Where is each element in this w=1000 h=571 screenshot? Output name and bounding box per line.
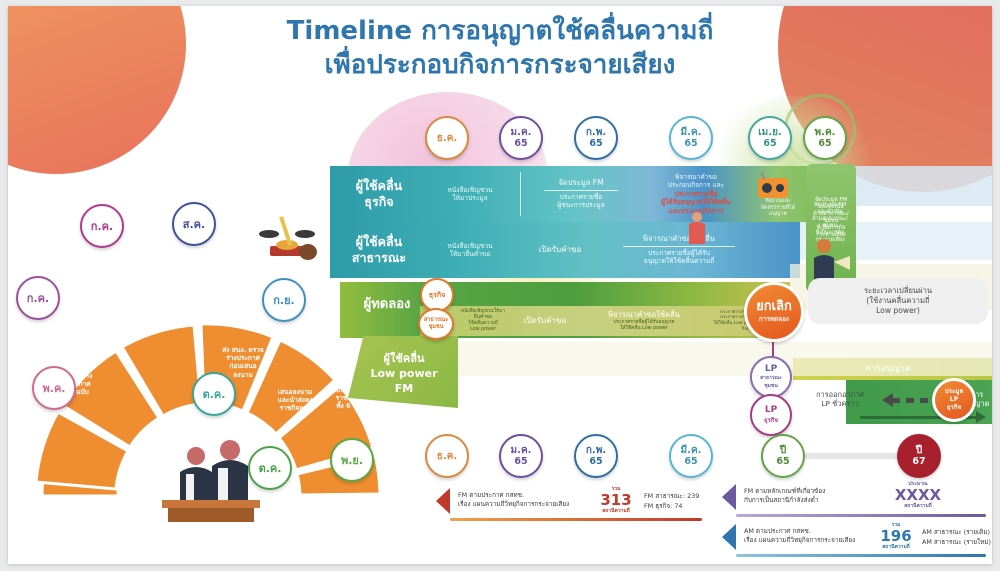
cell-public-0: หนังสือเชิญชวน ให้มายื่นคำขอ xyxy=(422,226,518,274)
stat-fm-lowpower-chevron xyxy=(722,484,736,510)
note-transition-period: ระยะเวลาเปลี่ยนผ่าน (ใช้งานคลื่นความถี่ … xyxy=(808,278,988,324)
gavel-icon xyxy=(256,212,318,264)
stat-am-plan-line1: AM ตามประกาศ กสทช. xyxy=(744,527,884,536)
radio-icon xyxy=(756,170,790,200)
arc-seg-3-text: ปิดรับฟัง ความเห็น สาธารณะ xyxy=(154,246,228,271)
cell-public-2-bottom: ประกาศรายชื่อผู้ได้รับ อนุญาตให้ใช้คลื่น… xyxy=(644,249,714,266)
row-label-trial: ผู้ทดลอง xyxy=(348,282,426,328)
row-label-lowpower-line3: FM xyxy=(395,381,413,396)
stat-am-plan-detail1: AM สาธารณะ (รายเดิม) 155 xyxy=(922,528,992,538)
arc-month-1[interactable]: ก.ค. xyxy=(16,276,60,320)
stat-am-plan-count: 196 xyxy=(874,528,918,544)
row-label-business: ผู้ใช้คลื่น ธุรกิจ xyxy=(338,166,420,222)
row-label-public: ผู้ใช้คลื่น สาธารณะ xyxy=(338,222,420,278)
badge-lp-business-line2: ธุรกิจ xyxy=(764,415,778,425)
label-broadcast-temp: การออกอากาศ LP ชั่วคราว xyxy=(796,384,884,414)
row-label-business-line2: ธุรกิจ xyxy=(364,194,393,210)
stat-am-plan: AM ตามประกาศ กสทช. เรื่อง แผนความถี่วิทย… xyxy=(722,524,990,562)
cell-business-2-top: พิจารณาคำขอ ประกอบกิจการ และ xyxy=(668,173,724,190)
arc-month-3[interactable]: ส.ค. xyxy=(172,202,216,246)
cell-business-1: จัดประมูล FM ประกาศรายชื่อ ผู้ชนะการประม… xyxy=(528,168,634,220)
stat-fm-lowpower: FM ตามหลักเกณฑ์ที่เกี่ยวข้อง กับการเป็นส… xyxy=(722,484,990,520)
megaphone-icon xyxy=(684,210,710,246)
stat-fm-lowpower-line1: FM ตามหลักเกณฑ์ที่เกี่ยวข้อง xyxy=(744,487,892,496)
arc-month-6-label: ต.ค. xyxy=(259,463,282,474)
stat-am-plan-number: รวม 196 สถานีความถี่ xyxy=(874,522,918,550)
row-label-business-line1: ผู้ใช้คลื่น xyxy=(356,178,402,194)
arrow-green-right-head xyxy=(976,411,986,423)
stat-fm-plan-text: FM ตามประกาศ กสทช. เรื่อง แผนความถี่วิทย… xyxy=(458,491,598,509)
top-month-2-name: ก.พ. xyxy=(586,127,606,138)
bottom-month-5-year: 67 xyxy=(912,456,925,467)
badge-lp-business[interactable]: LP ธุรกิจ xyxy=(750,394,792,436)
stat-fm-lowpower-count: XXXX xyxy=(888,487,948,503)
badge-lp-public[interactable]: LP สาธารณะ ชุมชน xyxy=(750,356,792,398)
arrow-dashed-left xyxy=(892,398,936,403)
cell-trial-0: หนังสือเชิญชวนให้มา ยื่นคำขอ ใช้คลื่นควา… xyxy=(456,306,510,336)
cell-trial-2: พิจารณาคำขอใช้คลื่น ประกาศรายชื่อผู้ได้ร… xyxy=(580,304,708,338)
cell-business-1-bottom: ประกาศรายชื่อ ผู้ชนะการประมูล xyxy=(557,193,604,210)
stat-fm-plan-count: 313 xyxy=(594,492,638,508)
badge-auction-line1: ประมูล xyxy=(945,388,963,396)
stat-fm-plan-rule xyxy=(450,518,702,521)
bottom-month-3[interactable]: มี.ค. 65 xyxy=(669,434,713,478)
badge-lp-business-line1: LP xyxy=(765,405,777,415)
bottom-month-4[interactable]: ปี 65 xyxy=(761,434,805,478)
top-month-0-name: ธ.ค. xyxy=(437,133,457,144)
infographic-canvas: Timeline การอนุญาตใช้คลื่นความถี่ เพื่อป… xyxy=(8,6,992,564)
badge-auction-line3: ธุรกิจ xyxy=(947,404,961,412)
arc-month-0-label: พ.ค. xyxy=(43,383,66,394)
badge-auction-line2: LP xyxy=(950,396,958,404)
row-label-public-line2: สาธารณะ xyxy=(352,250,406,266)
stat-fm-lowpower-text: FM ตามหลักเกณฑ์ที่เกี่ยวข้อง กับการเป็นส… xyxy=(744,487,892,505)
arc-month-7[interactable]: พ.ย. xyxy=(330,438,374,482)
bottom-month-2[interactable]: ก.พ. 65 xyxy=(574,434,618,478)
bottom-month-1[interactable]: ม.ค. 65 xyxy=(499,434,543,478)
arc-month-5[interactable]: ต.ค. xyxy=(192,372,236,416)
bottom-month-4-name: ปี xyxy=(780,445,786,456)
stat-am-plan-details: AM สาธารณะ (รายเดิม) 155 AM สาธารณะ (ราย… xyxy=(922,528,992,547)
stat-fm-plan-line1: FM ตามประกาศ กสทช. xyxy=(458,491,598,500)
bottom-month-3-year: 65 xyxy=(684,456,697,467)
strip-business-ext xyxy=(850,166,992,206)
row-label-lowpower-line1: ผู้ใช้คลื่น xyxy=(384,351,425,366)
top-month-5[interactable]: พ.ค. 65 xyxy=(803,116,847,160)
row-label-lowpower: ผู้ใช้คลื่น Low power FM xyxy=(352,342,456,404)
stat-fm-plan: FM ตามประกาศ กสทช. เรื่อง แผนความถี่วิทย… xyxy=(436,488,706,526)
top-month-3[interactable]: มี.ค. 65 xyxy=(669,116,713,160)
badge-lp-public-line1: LP xyxy=(765,364,777,374)
row-label-lowpower-line2: Low power xyxy=(370,366,437,381)
title-line-2: เพื่อประกอบกิจการกระจายเสียง xyxy=(8,48,992,82)
bottom-month-4-year: 65 xyxy=(776,456,789,467)
badge-trial-business-label: ธุรกิจ xyxy=(429,290,445,301)
top-month-0[interactable]: ธ.ค. xyxy=(425,116,469,160)
stat-fm-lowpower-number: ประมาณ XXXX สถานีความถี่ xyxy=(888,481,948,509)
bottom-month-5[interactable]: ปี 67 xyxy=(897,434,941,478)
arc-month-7-label: พ.ย. xyxy=(341,455,363,466)
top-month-3-year: 65 xyxy=(684,138,697,149)
bottom-month-0[interactable]: ธ.ค. xyxy=(425,434,469,478)
bottom-month-1-year: 65 xyxy=(514,456,527,467)
bottom-month-5-name: ปี xyxy=(916,445,922,456)
cell-trial-1: เปิดรับคำขอ xyxy=(512,306,578,336)
bottom-month-2-year: 65 xyxy=(589,456,602,467)
stat-fm-plan-number: รวม 313 สถานีความถี่ xyxy=(594,486,638,514)
bottom-month-0-name: ธ.ค. xyxy=(437,451,457,462)
top-month-2[interactable]: ก.พ. 65 xyxy=(574,116,618,160)
cell-business-1-top: จัดประมูล FM xyxy=(558,178,603,187)
stat-am-plan-detail2: AM สาธารณะ (รายใหม่) 41 xyxy=(922,538,992,548)
top-month-2-year: 65 xyxy=(589,138,602,149)
arc-month-0[interactable]: พ.ค. xyxy=(32,366,76,410)
top-month-1[interactable]: ม.ค. 65 xyxy=(499,116,543,160)
arc-month-3-label: ส.ค. xyxy=(183,219,205,230)
stat-am-plan-line2: เรื่อง แผนความถี่วิทยุกิจการกระจายเสียง xyxy=(744,536,884,545)
arc-month-4-label: ก.ย. xyxy=(273,295,294,306)
top-month-1-name: ม.ค. xyxy=(511,127,532,138)
badge-lp-public-line2: สาธารณะ xyxy=(760,374,782,382)
row-label-trial-text: ผู้ทดลอง xyxy=(364,297,411,313)
page-title: Timeline การอนุญาตใช้คลื่นความถี่ เพื่อป… xyxy=(8,14,992,82)
bottom-month-3-name: มี.ค. xyxy=(681,445,702,456)
top-month-3-name: มี.ค. xyxy=(681,127,702,138)
top-month-4[interactable]: เม.ย. 65 xyxy=(748,116,792,160)
divider-business-0 xyxy=(520,172,521,216)
badge-lp-public-line3: ชุมชน xyxy=(764,382,778,390)
cell-public-2-rule xyxy=(623,246,735,247)
top-month-1-year: 65 xyxy=(514,138,527,149)
badge-trial-business: ธุรกิจ xyxy=(420,278,454,312)
badge-cancel-trial[interactable]: ยกเลิก การทดลอง xyxy=(744,282,804,342)
stat-am-plan-chevron xyxy=(722,524,736,550)
bottom-month-1-name: ม.ค. xyxy=(511,445,532,456)
cell-trial-2-bottom: ประกาศรายชื่อผู้ได้รับอนุญาต ให้ใช้คลื่น… xyxy=(613,320,674,332)
badge-cancel-line2: การทดลอง xyxy=(759,314,789,324)
arrow-dashed-head xyxy=(882,393,893,407)
bottom-month-2-name: ก.พ. xyxy=(586,445,606,456)
stat-fm-lowpower-line2: กับการเป็นสถานีกำลังส่งต่ำ xyxy=(744,496,892,505)
stat-am-plan-rule xyxy=(736,554,986,557)
top-month-4-name: เม.ย. xyxy=(758,127,781,138)
title-line-1: Timeline การอนุญาตใช้คลื่นความถี่ xyxy=(287,16,714,46)
stat-fm-plan-chevron xyxy=(436,488,450,514)
arc-month-2[interactable]: ก.ค. xyxy=(80,204,124,248)
arc-month-6[interactable]: ต.ค. xyxy=(248,446,292,490)
arc-month-5-label: ต.ค. xyxy=(203,389,226,400)
stat-fm-plan-details: FM สาธารณะ: 239 FM ธุรกิจ: 74 xyxy=(644,492,734,511)
bottom-month-connector xyxy=(803,453,909,459)
top-month-5-name: พ.ค. xyxy=(815,127,836,138)
badge-trial-public-label: สาธารณะ ชุมชน xyxy=(424,317,448,331)
stat-fm-lowpower-rule xyxy=(736,514,986,517)
cell-public-2: พิจารณาคำขอใช้คลื่น ประกาศรายชื่อผู้ได้ร… xyxy=(604,224,754,276)
badge-trial-public: สาธารณะ ชุมชน xyxy=(418,308,454,340)
cell-business-1-rule xyxy=(544,190,618,191)
row-label-public-line1: ผู้ใช้คลื่น xyxy=(356,234,402,250)
cell-trial-2-top: พิจารณาคำขอใช้คลื่น xyxy=(608,310,680,319)
top-month-4-year: 65 xyxy=(763,138,776,149)
stat-am-plan-text: AM ตามประกาศ กสทช. เรื่อง แผนความถี่วิทย… xyxy=(744,527,884,545)
arc-seg-2-text: เปิดรับฟัง ความเห็นสาธารณะ ร่างประกาศ 6 … xyxy=(80,250,154,283)
stat-fm-plan-detail1: FM สาธารณะ: 239 xyxy=(644,492,734,502)
arc-month-4[interactable]: ก.ย. xyxy=(262,278,306,322)
badge-auction-lp-business[interactable]: ประมูล LP ธุรกิจ xyxy=(932,378,976,422)
stat-fm-plan-detail2: FM ธุรกิจ: 74 xyxy=(644,502,734,512)
top-month-5-year: 65 xyxy=(818,138,831,149)
cell-public-1: เปิดรับคำขอ xyxy=(520,226,600,274)
cell-business-0: หนังสือเชิญชวน ให้มาประมูล xyxy=(422,168,518,220)
arc-month-2-label: ก.ค. xyxy=(91,221,113,232)
badge-cancel-line1: ยกเลิก xyxy=(756,300,792,314)
arc-month-1-label: ก.ค. xyxy=(27,293,49,304)
label-license-bar: การอนุญาต xyxy=(828,358,948,380)
stat-fm-plan-line2: เรื่อง แผนความถี่วิทยุกิจการกระจายเสียง xyxy=(458,500,598,509)
